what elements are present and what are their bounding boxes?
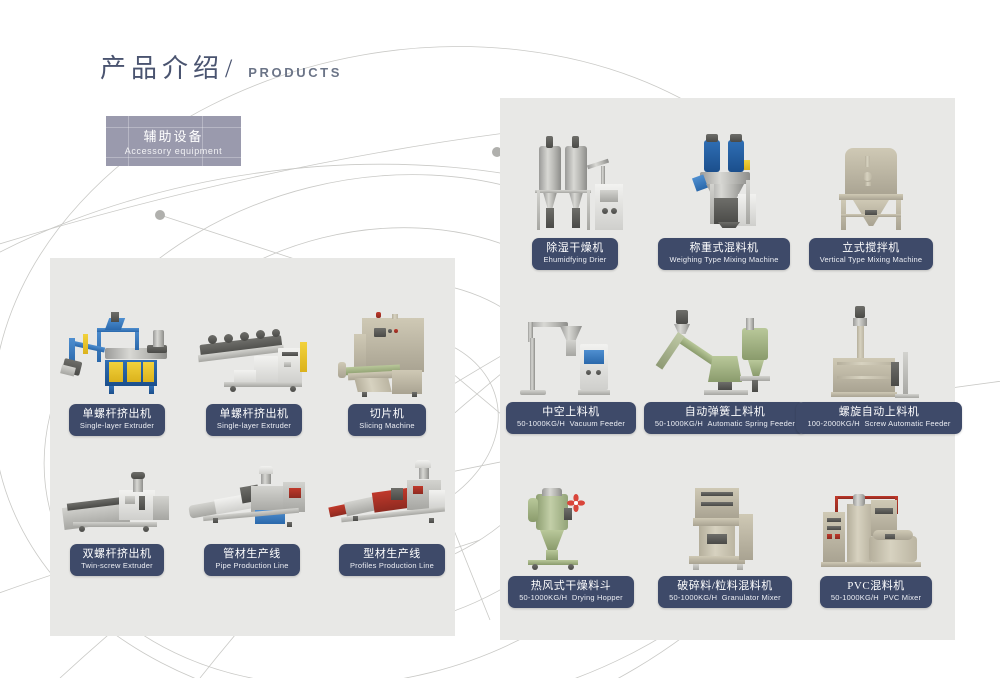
product-cell[interactable]: PVC混料机 50-1000KG/H PVC Mixer bbox=[806, 470, 946, 608]
product-label[interactable]: 除湿干燥机 Ehumidfying Drier bbox=[532, 238, 617, 270]
machine-illustration-pvc-mixer bbox=[806, 470, 946, 576]
product-name-cn: 中空上料机 bbox=[517, 406, 625, 419]
product-cell[interactable]: 双螺杆挤出机 Twin-screw Extruder bbox=[58, 452, 176, 576]
product-name-cn: 自动弹簧上料机 bbox=[655, 406, 795, 419]
product-name-en: Slicing Machine bbox=[359, 421, 415, 431]
product-name-en: 100-2000KG/H Screw Automatic Feeder bbox=[807, 419, 950, 429]
product-name-en: Twin-screw Extruder bbox=[81, 561, 153, 571]
machine-illustration-dehumid-drier bbox=[516, 128, 634, 238]
product-cell[interactable]: 除湿干燥机 Ehumidfying Drier bbox=[516, 128, 634, 270]
product-name-cn: 破碎料/粒料混料机 bbox=[669, 580, 781, 593]
product-name-en: Single-layer Extruder bbox=[80, 421, 154, 431]
product-name-cn: 型材生产线 bbox=[350, 548, 434, 561]
product-cell[interactable]: 破碎料/粒料混料机 50-1000KG/H Granulator Mixer bbox=[658, 470, 792, 608]
product-name-en: Single-layer Extruder bbox=[217, 421, 291, 431]
product-name-en: Weighing Type Mixing Machine bbox=[669, 255, 778, 265]
machine-illustration-weigh-mixer bbox=[665, 128, 783, 238]
category-name-cn: 辅助设备 bbox=[143, 126, 203, 145]
machine-illustration-slicer bbox=[330, 300, 444, 404]
product-label[interactable]: 双螺杆挤出机 Twin-screw Extruder bbox=[70, 544, 164, 576]
product-name-en: Profiles Production Line bbox=[350, 561, 434, 571]
machine-illustration-screw-feeder bbox=[806, 300, 952, 402]
machine-illustration-spring-feeder bbox=[655, 300, 795, 402]
product-cell[interactable]: 单螺杆挤出机 Single-layer Extruder bbox=[58, 300, 176, 436]
product-name-cn: 切片机 bbox=[359, 408, 415, 421]
product-name-en: 50-1000KG/H Automatic Spring Feeder bbox=[655, 419, 795, 429]
product-label[interactable]: 热风式干燥料斗 50-1000KG/H Drying Hopper bbox=[508, 576, 634, 608]
product-name-en: 50-1000KG/H Vacuum Feeder bbox=[517, 419, 625, 429]
product-name-en: 50-1000KG/H PVC Mixer bbox=[831, 593, 921, 603]
machine-illustration-vacuum-feeder bbox=[505, 300, 637, 402]
product-label[interactable]: 螺旋自动上料机 100-2000KG/H Screw Automatic Fee… bbox=[796, 402, 961, 434]
machine-illustration-extruder-blue bbox=[58, 300, 176, 404]
product-cell[interactable]: 中空上料机 50-1000KG/H Vacuum Feeder bbox=[505, 300, 637, 434]
product-name-en: 50-1000KG/H Drying Hopper bbox=[519, 593, 623, 603]
product-name-en: Ehumidfying Drier bbox=[543, 255, 606, 265]
product-name-cn: 单螺杆挤出机 bbox=[217, 408, 291, 421]
product-name-cn: 螺旋自动上料机 bbox=[807, 406, 950, 419]
machine-illustration-drying-hopper bbox=[505, 470, 637, 576]
fan-icon bbox=[567, 494, 585, 512]
machine-illustration-pipe-line bbox=[188, 452, 316, 544]
product-label[interactable]: 型材生产线 Profiles Production Line bbox=[339, 544, 445, 576]
product-label[interactable]: PVC混料机 50-1000KG/H PVC Mixer bbox=[820, 576, 932, 608]
product-label[interactable]: 称重式混料机 Weighing Type Mixing Machine bbox=[658, 238, 789, 270]
product-label[interactable]: 自动弹簧上料机 50-1000KG/H Automatic Spring Fee… bbox=[644, 402, 806, 434]
page-title: 产品介绍 / PRODUCTS bbox=[100, 48, 342, 85]
product-name-cn: 管材生产线 bbox=[215, 548, 288, 561]
machine-illustration-vertical-mixer bbox=[812, 128, 930, 238]
product-name-en: Pipe Production Line bbox=[215, 561, 288, 571]
category-name-en: Accessory equipment bbox=[125, 146, 222, 156]
product-label[interactable]: 单螺杆挤出机 Single-layer Extruder bbox=[69, 404, 165, 436]
product-label[interactable]: 立式搅拌机 Vertical Type Mixing Machine bbox=[809, 238, 934, 270]
product-cell[interactable]: 螺旋自动上料机 100-2000KG/H Screw Automatic Fee… bbox=[806, 300, 952, 434]
product-cell[interactable]: 自动弹簧上料机 50-1000KG/H Automatic Spring Fee… bbox=[655, 300, 795, 434]
product-cell[interactable]: 管材生产线 Pipe Production Line bbox=[188, 452, 316, 576]
product-name-cn: PVC混料机 bbox=[831, 580, 921, 593]
machine-illustration-profile-line bbox=[328, 452, 456, 544]
product-label[interactable]: 中空上料机 50-1000KG/H Vacuum Feeder bbox=[506, 402, 636, 434]
product-name-cn: 立式搅拌机 bbox=[820, 242, 923, 255]
machine-illustration-granulator-mixer bbox=[658, 470, 792, 576]
machine-illustration-twin-screw bbox=[58, 452, 176, 544]
product-name-cn: 单螺杆挤出机 bbox=[80, 408, 154, 421]
product-cell[interactable]: 单螺杆挤出机 Single-layer Extruder bbox=[192, 300, 316, 436]
page-title-slash: / bbox=[225, 54, 232, 84]
product-cell[interactable]: 型材生产线 Profiles Production Line bbox=[328, 452, 456, 576]
product-cell[interactable]: 立式搅拌机 Vertical Type Mixing Machine bbox=[812, 128, 930, 270]
product-name-cn: 称重式混料机 bbox=[669, 242, 778, 255]
product-label[interactable]: 切片机 Slicing Machine bbox=[348, 404, 426, 436]
product-name-cn: 热风式干燥料斗 bbox=[519, 580, 623, 593]
machine-illustration-conveyor-roller bbox=[192, 300, 316, 404]
product-name-cn: 双螺杆挤出机 bbox=[81, 548, 153, 561]
product-cell[interactable]: 热风式干燥料斗 50-1000KG/H Drying Hopper bbox=[505, 470, 637, 608]
product-catalog-page: 产品介绍 / PRODUCTS 辅助设备 Accessory equipment bbox=[0, 0, 1000, 678]
product-name-cn: 除湿干燥机 bbox=[543, 242, 606, 255]
page-title-cn: 产品介绍 bbox=[100, 48, 224, 85]
product-name-en: Vertical Type Mixing Machine bbox=[820, 255, 923, 265]
product-label[interactable]: 单螺杆挤出机 Single-layer Extruder bbox=[206, 404, 302, 436]
category-badge-accessory-equipment[interactable]: 辅助设备 Accessory equipment bbox=[106, 116, 241, 166]
product-cell[interactable]: 切片机 Slicing Machine bbox=[330, 300, 444, 436]
product-label[interactable]: 破碎料/粒料混料机 50-1000KG/H Granulator Mixer bbox=[658, 576, 792, 608]
page-title-en: PRODUCTS bbox=[248, 65, 342, 80]
product-cell[interactable]: 称重式混料机 Weighing Type Mixing Machine bbox=[665, 128, 783, 270]
product-label[interactable]: 管材生产线 Pipe Production Line bbox=[204, 544, 299, 576]
product-name-en: 50-1000KG/H Granulator Mixer bbox=[669, 593, 781, 603]
